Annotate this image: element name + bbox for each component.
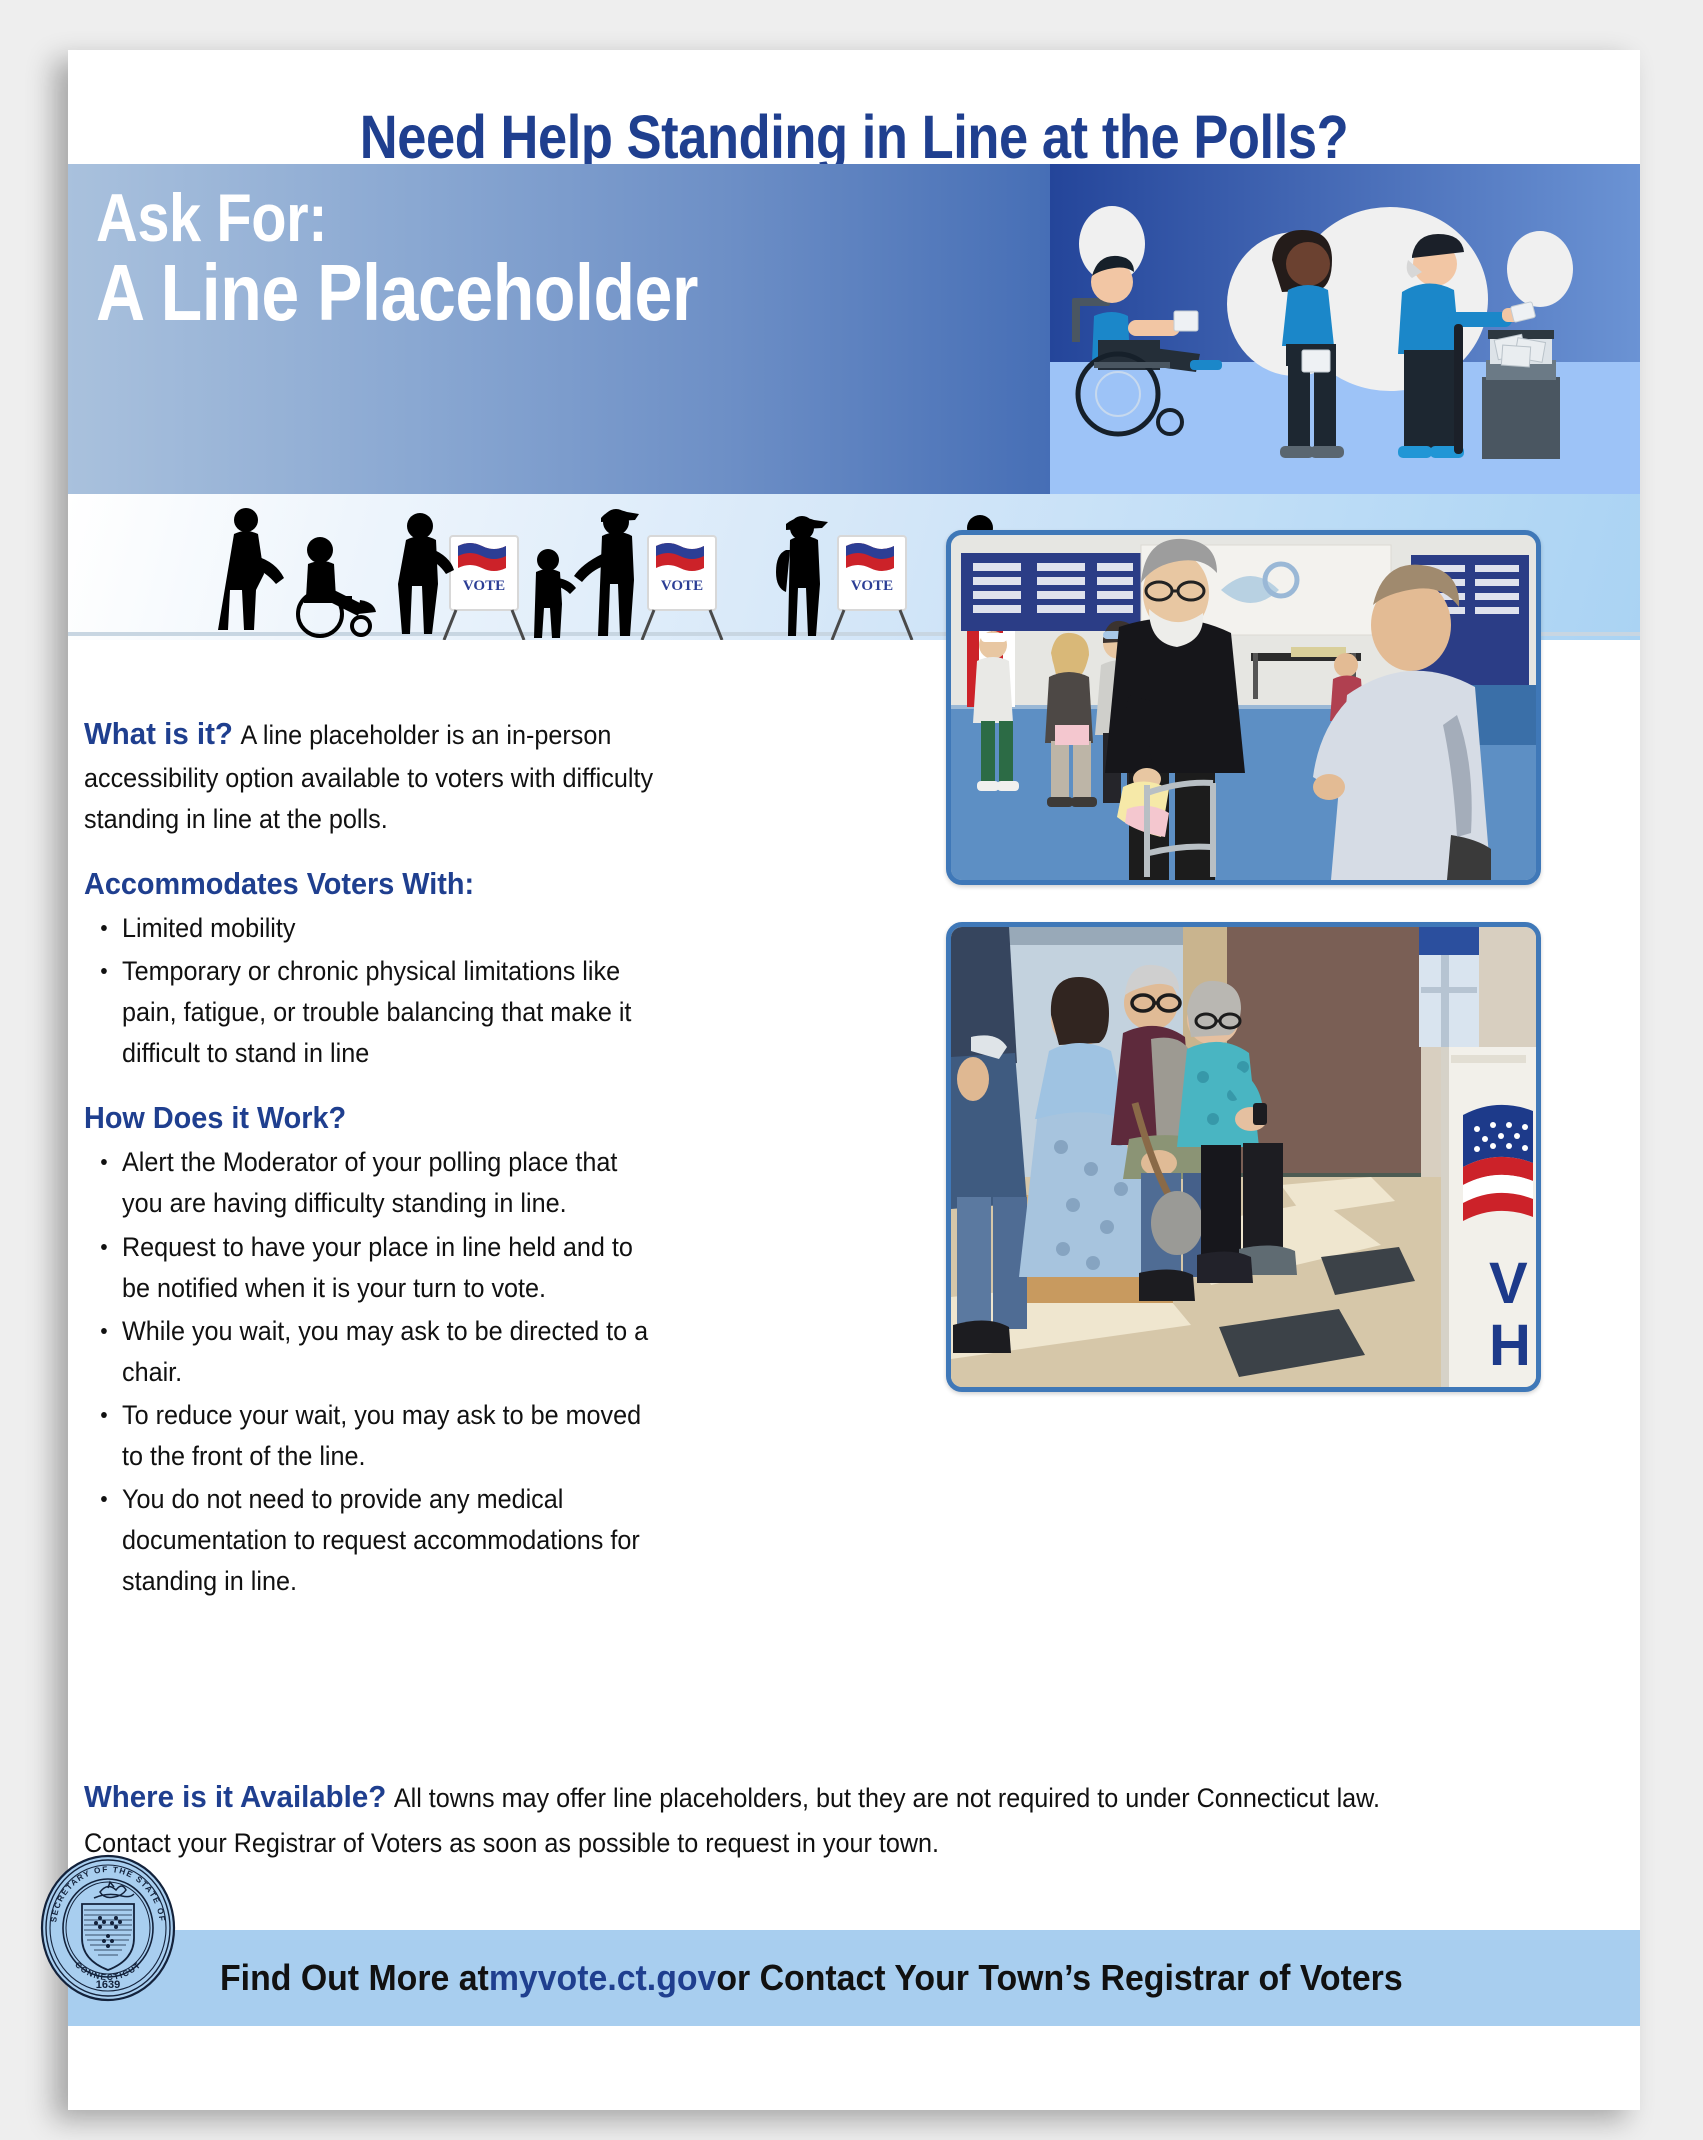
section-what-is-it: What is it?A line placeholder is an in-p… [84, 710, 654, 840]
svg-text:VOTE: VOTE [463, 578, 505, 594]
section-heading-where-available: Where is it Available? [84, 1779, 386, 1814]
section-where-available: Where is it Available?All towns may offe… [84, 1772, 1414, 1865]
list-item: While you wait, you may ask to be direct… [84, 1311, 654, 1393]
how-it-works-list: Alert the Moderator of your polling plac… [84, 1142, 684, 1602]
flyer-sheet: Need Help Standing in Line at the Polls?… [68, 50, 1640, 2110]
banner-headline: Ask For: A Line Placeholder [96, 186, 698, 332]
hero-banner: Ask For: A Line Placeholder [68, 164, 1640, 494]
list-item: Limited mobility [84, 908, 654, 949]
page-title: Need Help Standing in Line at the Polls? [178, 102, 1530, 172]
list-item: Temporary or chronic physical limitation… [84, 951, 654, 1074]
list-item: Request to have your place in line held … [84, 1227, 654, 1309]
section-heading-what-is-it: What is it? [84, 716, 233, 751]
banner-line-2: A Line Placeholder [96, 255, 698, 332]
list-item: Alert the Moderator of your polling plac… [84, 1142, 654, 1224]
content-column: What is it?A line placeholder is an in-p… [84, 710, 684, 1604]
svg-text:V: V [1489, 1251, 1528, 1316]
photo-man-with-walker-at-polling-place [946, 530, 1541, 885]
footer-text-after: or Contact Your Town’s Registrar of Vote… [716, 1957, 1402, 1999]
footer-cta: Find Out More at myvote.ct.gov or Contac… [220, 1930, 1403, 2026]
section-heading-how-does-it-work: How Does it Work? [84, 1100, 642, 1136]
list-item: To reduce your wait, you may ask to be m… [84, 1395, 654, 1477]
section-heading-accommodates: Accommodates Voters With: [84, 866, 642, 902]
seal-year: 1639 [96, 1979, 120, 1991]
photo-voters-seated-waiting-in-line: V H [946, 922, 1541, 1392]
svg-text:H: H [1489, 1313, 1531, 1378]
accommodates-list: Limited mobility Temporary or chronic ph… [84, 908, 684, 1074]
footer-bar: Find Out More at myvote.ct.gov or Contac… [68, 1930, 1640, 2026]
ct-secretary-of-state-seal: SECRETARY OF THE STATE OF CONNECTICUT [34, 1842, 182, 2010]
banner-line-1: Ask For: [96, 186, 698, 251]
myvote-url-link[interactable]: myvote.ct.gov [489, 1957, 717, 1999]
voters-in-line-illustration [1050, 164, 1640, 494]
list-item: You do not need to provide any medical d… [84, 1479, 654, 1602]
footer-text-before: Find Out More at [220, 1957, 489, 1999]
svg-text:VOTE: VOTE [851, 578, 893, 594]
svg-text:VOTE: VOTE [661, 578, 703, 594]
